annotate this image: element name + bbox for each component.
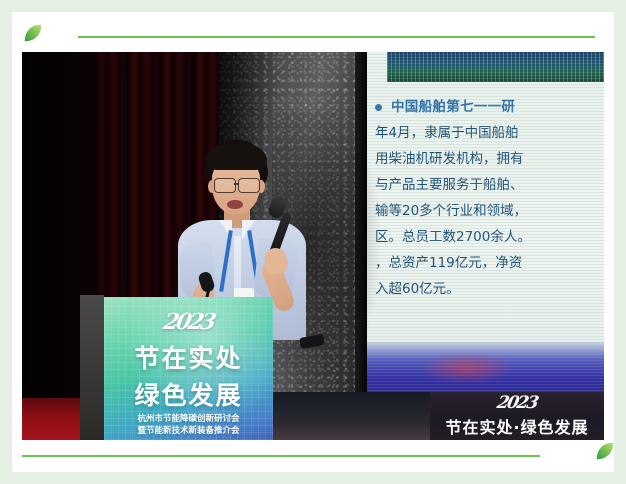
slide-line: 年4月，隶属于中国船舶: [375, 120, 604, 146]
slide-body-text: 中国船舶第七一一研 年4月，隶属于中国船舶 用柴油机研发机构，拥有 与产品主要服…: [375, 94, 604, 302]
podium-title-line-1: 节在实处: [104, 339, 273, 375]
slide-line: 输等20多个行业和领域，: [375, 198, 604, 224]
page-root: 中国船舶第七一一研 年4月，隶属于中国船舶 用柴油机研发机构，拥有 与产品主要服…: [0, 0, 626, 484]
podium: 2023 节在实处 绿色发展 杭州市节能降碳创新研讨会 暨节能新技术新装备推介会: [80, 295, 273, 440]
slide-bullet-title: 中国船舶第七一一研: [375, 94, 604, 120]
glasses-lens: [214, 178, 236, 193]
podium-subtitle: 杭州市节能降碳创新研讨会 暨节能新技术新装备推介会: [104, 413, 273, 437]
banner-logo: 2023: [430, 393, 604, 413]
projection-screen: 中国船舶第七一一研 年4月，隶属于中国船舶 用柴油机研发机构，拥有 与产品主要服…: [367, 52, 604, 400]
slide-header-image: [387, 52, 604, 82]
slide-line: 入超60亿元。: [375, 276, 604, 302]
event-photo: 中国船舶第七一一研 年4月，隶属于中国船舶 用柴油机研发机构，拥有 与产品主要服…: [22, 52, 604, 440]
speaker-fringe: [205, 144, 267, 170]
podium-side-panel: [80, 295, 104, 440]
podium-subtitle-line-1: 杭州市节能降碳创新研讨会: [104, 413, 273, 425]
glasses-lens: [238, 178, 260, 193]
glasses-bridge: [234, 183, 238, 185]
leaf-icon: [22, 22, 44, 44]
slide-line: 与产品主要服务于船舶、: [375, 172, 604, 198]
divider-bottom: [22, 455, 540, 457]
bullet-dot-icon: [375, 104, 382, 111]
stage-banner: 2023 节在实处·绿色发展: [430, 392, 604, 440]
leaf-icon: [594, 440, 616, 462]
slide-line: 用柴油机研发机构，拥有: [375, 146, 604, 172]
podium-title-line-2: 绿色发展: [104, 376, 273, 412]
podium-front-panel: 2023 节在实处 绿色发展 杭州市节能降碳创新研讨会 暨节能新技术新装备推介会: [104, 297, 273, 440]
podium-subtitle-line-2: 暨节能新技术新装备推介会: [104, 425, 273, 437]
slide-line: 区。总员工数2700余人。: [375, 224, 604, 250]
banner-text: 节在实处·绿色发展: [430, 414, 604, 438]
speaker-mouth: [227, 200, 243, 209]
slide-line: ，总资产119亿元，净资: [375, 250, 604, 276]
podium-logo: 2023: [104, 309, 273, 335]
divider-top: [78, 36, 595, 38]
